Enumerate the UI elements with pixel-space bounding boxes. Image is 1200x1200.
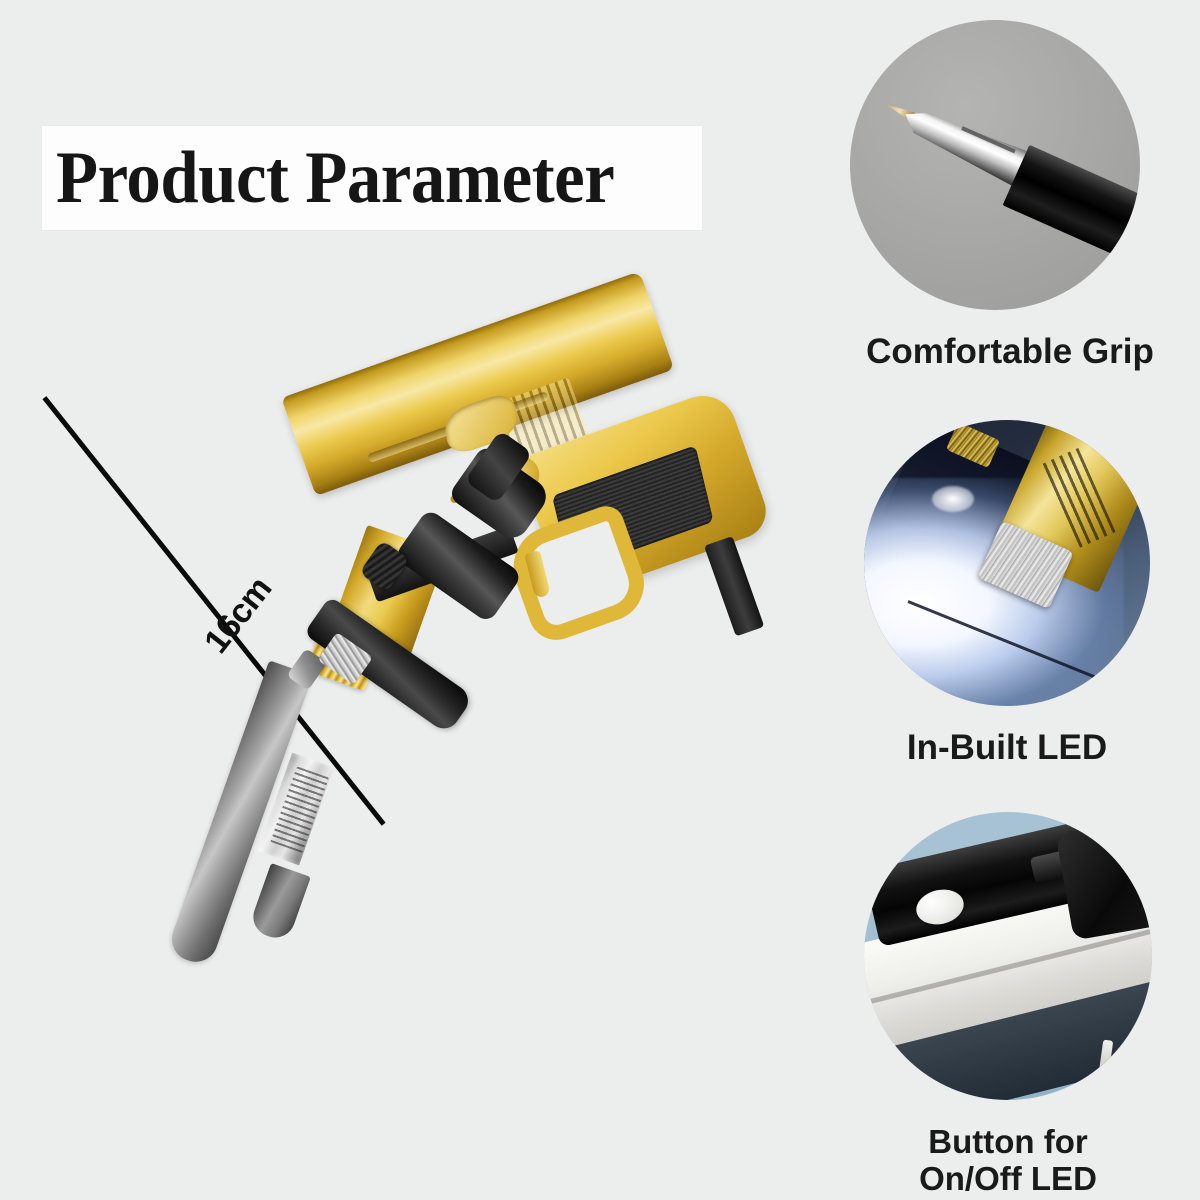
led-emitter-hotspot bbox=[932, 486, 974, 512]
black-magazine-base bbox=[704, 536, 764, 637]
inset-caption-led: In-Built LED bbox=[864, 728, 1150, 767]
inset-circle-button bbox=[864, 812, 1152, 1100]
product-image-gun-pen bbox=[120, 400, 820, 1040]
inset-circle-led bbox=[864, 420, 1150, 706]
pen-chrome-cone bbox=[896, 100, 1028, 187]
product-parameter-infographic: Product Parameter 16cm bbox=[0, 0, 1200, 1200]
scope-eyepiece-block bbox=[1055, 815, 1152, 940]
inset-circle-grip bbox=[850, 20, 1140, 310]
inset-caption-button: Button for On/Off LED bbox=[864, 1124, 1152, 1198]
page-title: Product Parameter bbox=[56, 132, 651, 224]
pen-black-body bbox=[1003, 145, 1140, 279]
pen-barrel-cap bbox=[248, 863, 311, 943]
inset-caption-grip: Comfortable Grip bbox=[830, 332, 1190, 371]
